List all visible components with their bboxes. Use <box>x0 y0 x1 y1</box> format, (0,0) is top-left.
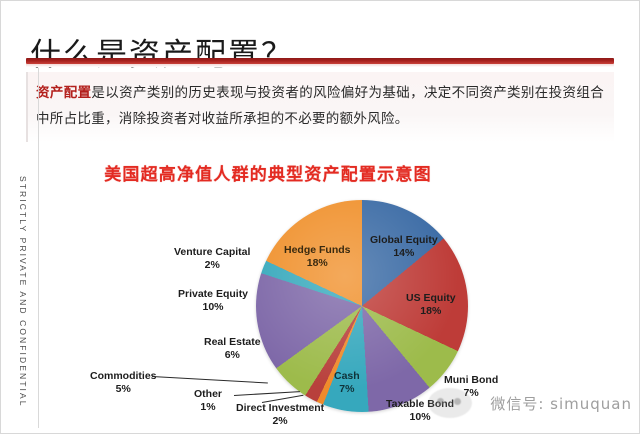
confidential-notice: STRICTLY PRIVATE AND CONFIDENTIAL <box>6 176 28 408</box>
slice-label-muni-bond-text: Muni Bond <box>444 374 498 386</box>
slice-label-global-equity-text: Global Equity <box>370 234 438 246</box>
slide-canvas: 什么是资产配置？ 资产配置是以资产类别的历史表现与投资者的风险偏好为基础，决定不… <box>0 0 640 434</box>
slice-label-real-estate-text: Real Estate <box>204 336 261 348</box>
slice-label-global-equity: Global Equity 14% <box>370 234 438 259</box>
slice-label-private-equity-pct: 10% <box>178 301 248 314</box>
intro-paragraph: 资产配置是以资产类别的历史表现与投资者的风险偏好为基础，决定不同资产类别在投资组… <box>36 80 604 132</box>
slice-label-venture-capital-text: Venture Capital <box>174 246 250 258</box>
leader-line-commodities <box>152 376 268 383</box>
slice-label-private-equity-text: Private Equity <box>178 288 248 300</box>
slice-label-hedge-funds: Hedge Funds 18% <box>284 244 351 269</box>
slice-label-hedge-funds-text: Hedge Funds <box>284 244 351 256</box>
watermark-text: 微信号: simuquan <box>490 393 632 414</box>
slice-label-venture-capital-pct: 2% <box>174 259 250 272</box>
intro-body-text: 是以资产类别的历史表现与投资者的风险偏好为基础，决定不同资产类别在投资组合中所占… <box>36 85 604 127</box>
title-divider-shadow <box>26 64 614 67</box>
slice-label-direct-investment-text: Direct Investment <box>236 402 324 414</box>
slice-label-commodities: Commodities 5% <box>90 370 157 395</box>
page-title: 什么是资产配置？ <box>30 29 294 74</box>
slice-label-venture-capital: Venture Capital 2% <box>174 246 250 271</box>
slice-label-other: Other 1% <box>194 388 222 413</box>
slice-label-us-equity: US Equity 18% <box>406 292 456 317</box>
intro-paragraph-block: 资产配置是以资产类别的历史表现与投资者的风险偏好为基础，决定不同资产类别在投资组… <box>26 72 614 142</box>
slice-label-other-text: Other <box>194 388 222 400</box>
pie-chart-figure: 美国超高净值人群的典型资产配置示意图 Global Equity 14% US … <box>48 152 634 432</box>
slice-label-us-equity-text: US Equity <box>406 292 456 304</box>
slice-label-global-equity-pct: 14% <box>370 247 438 260</box>
watermark-emoji-icon <box>428 388 472 418</box>
slice-label-direct-investment: Direct Investment 2% <box>236 402 324 427</box>
slice-label-direct-investment-pct: 2% <box>236 415 324 428</box>
slice-label-cash-pct: 7% <box>334 383 360 396</box>
chart-title: 美国超高净值人群的典型资产配置示意图 <box>48 160 488 185</box>
slice-label-real-estate: Real Estate 6% <box>204 336 261 361</box>
sidebar-divider <box>38 68 39 428</box>
slice-label-hedge-funds-pct: 18% <box>284 257 351 270</box>
slice-label-cash-text: Cash <box>334 370 360 382</box>
slice-label-commodities-text: Commodities <box>90 370 157 382</box>
slice-label-real-estate-pct: 6% <box>204 349 261 362</box>
slice-label-us-equity-pct: 18% <box>406 305 456 318</box>
slice-label-other-pct: 1% <box>194 401 222 414</box>
slice-label-commodities-pct: 5% <box>90 383 157 396</box>
slice-label-private-equity: Private Equity 10% <box>178 288 248 313</box>
slice-label-cash: Cash 7% <box>334 370 360 395</box>
intro-keyword: 资产配置 <box>36 85 91 101</box>
